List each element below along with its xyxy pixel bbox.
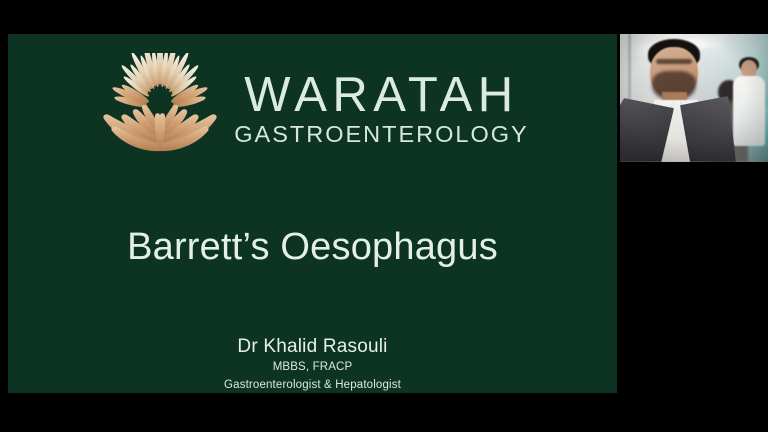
brand-wordmark: WARATAH GASTROENTEROLOGY <box>234 71 528 147</box>
presenter-block: Dr Khalid Rasouli MBBS, FRACP Gastroente… <box>8 334 617 393</box>
background-person-clinician <box>732 60 766 146</box>
brand-name-primary: WARATAH <box>244 71 518 119</box>
slide-title: Barrett’s Oesophagus <box>8 226 617 269</box>
presenter-webcam-overlay[interactable] <box>620 34 768 162</box>
presenter-figure <box>620 38 736 162</box>
waratah-flower-logo-icon <box>96 53 224 165</box>
webcam-room-background <box>620 34 768 162</box>
brand-name-secondary: GASTROENTEROLOGY <box>234 122 528 147</box>
presenter-name: Dr Khalid Rasouli <box>8 334 617 359</box>
video-player-stage: WARATAH GASTROENTEROLOGY Barrett’s Oesop… <box>0 0 768 432</box>
presenter-credential-line: Gastroenterologist & Hepatologist <box>8 377 617 393</box>
presenter-credential-line: MBBS, FRACP <box>8 359 617 376</box>
presentation-slide: WARATAH GASTROENTEROLOGY Barrett’s Oesop… <box>8 34 617 393</box>
brand-lockup: WARATAH GASTROENTEROLOGY <box>8 42 617 172</box>
